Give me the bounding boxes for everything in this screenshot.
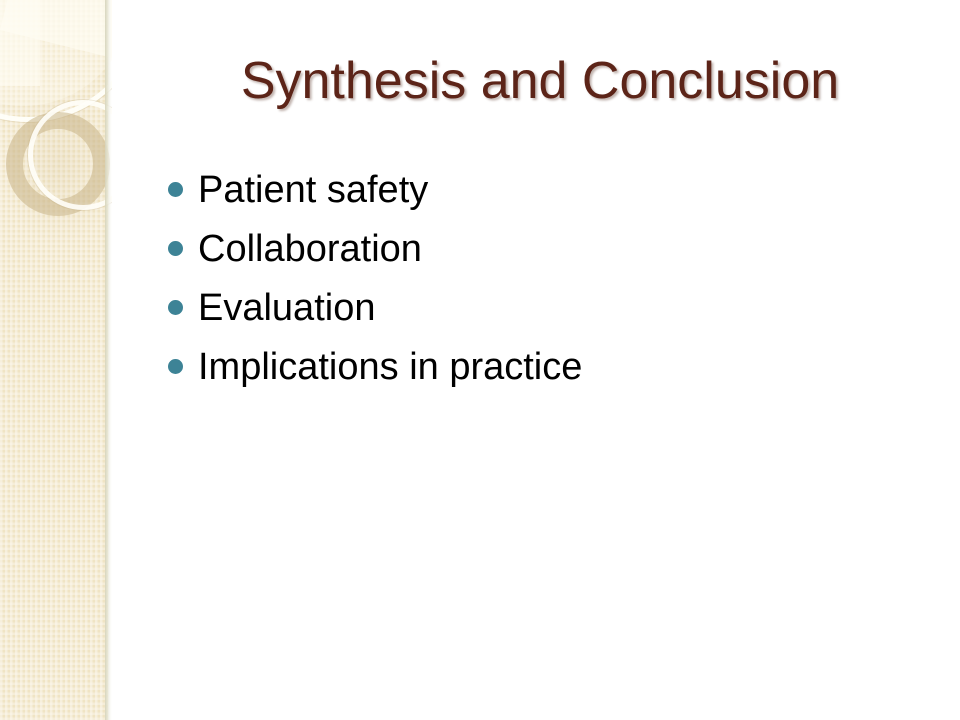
left-decorative-band [0, 0, 112, 720]
bullet-item-label: Evaluation [198, 286, 375, 330]
slide-title: Synthesis and Conclusion [130, 50, 950, 112]
bullet-dot-icon [168, 300, 183, 315]
list-item: Collaboration [168, 219, 928, 278]
list-item: Evaluation [168, 278, 928, 337]
bullet-item-label: Implications in practice [198, 345, 582, 389]
bullet-list: Patient safety Collaboration Evaluation … [168, 160, 928, 396]
sidebar-right-edge-strip [105, 0, 112, 720]
list-item: Implications in practice [168, 337, 928, 396]
list-item: Patient safety [168, 160, 928, 219]
bullet-item-label: Collaboration [198, 227, 422, 271]
presentation-slide: Synthesis and Conclusion Patient safety … [0, 0, 960, 720]
bullet-dot-icon [168, 182, 183, 197]
bullet-dot-icon [168, 359, 183, 374]
bullet-dot-icon [168, 241, 183, 256]
bullet-item-label: Patient safety [198, 168, 428, 212]
